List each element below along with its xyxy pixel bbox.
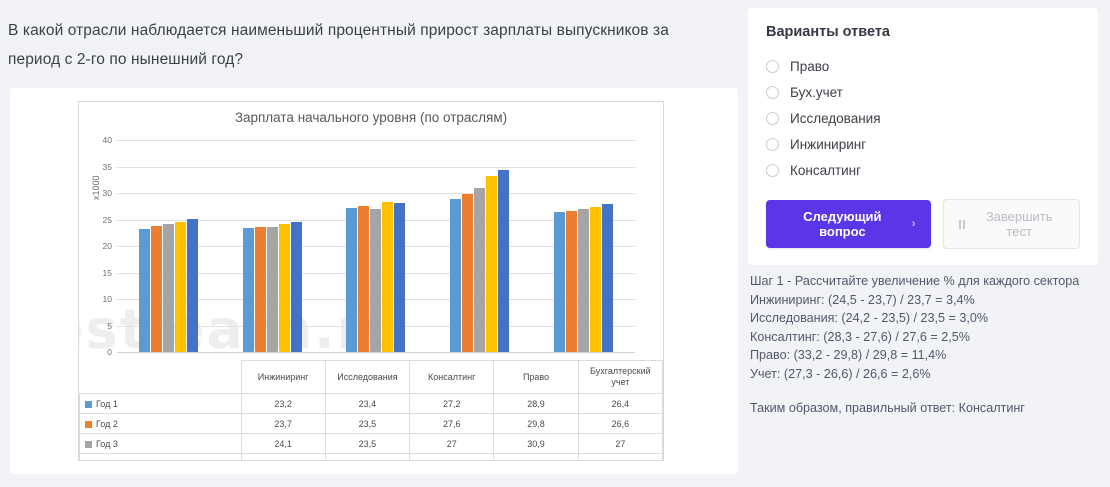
explanation-conclusion: Таким образом, правильный ответ: Консалт… xyxy=(750,399,1102,418)
question-text: В какой отрасли наблюдается наименьший п… xyxy=(8,16,724,74)
chart-bar xyxy=(267,227,278,352)
chart-bar xyxy=(602,204,613,352)
chart-bar xyxy=(291,222,302,352)
chart-group-3 xyxy=(324,140,428,352)
answer-option-2[interactable]: Бух.учет xyxy=(766,79,1080,105)
explanation-spacer xyxy=(750,383,1102,399)
answer-actions: Следующий вопрос › Завершить тест xyxy=(766,199,1080,249)
chart-bar xyxy=(175,222,186,352)
legend-swatch-icon xyxy=(85,421,92,428)
table-corner-cell xyxy=(80,361,242,394)
chart-plot-area: x1000 4035302520151050 xyxy=(117,140,635,352)
next-question-button[interactable]: Следующий вопрос › xyxy=(766,200,931,248)
radio-icon[interactable] xyxy=(766,86,779,99)
next-question-label: Следующий вопрос xyxy=(782,209,903,239)
explanation-line-2: Инжиниринг: (24,5 - 23,7) / 23,7 = 3,4% xyxy=(750,291,1102,310)
legend-label: Год 3 xyxy=(96,439,118,449)
legend-label: Год 2 xyxy=(96,419,118,429)
chart-title: Зарплата начального уровня (по отраслям) xyxy=(79,110,663,125)
table-header: ИнжинирингИсследованияКонсалтингПравоБух… xyxy=(80,361,663,394)
pause-icon xyxy=(959,220,965,229)
legend-label: Текущий год xyxy=(96,459,148,462)
answer-option-5[interactable]: Консалтинг xyxy=(766,157,1080,183)
table-cell: 24,2 xyxy=(325,454,409,462)
legend-swatch-icon xyxy=(85,441,92,448)
table-cell: 24,1 xyxy=(241,434,325,454)
table-cell: 28,9 xyxy=(494,394,578,414)
chart-bar xyxy=(243,228,254,352)
table-cell: 24,5 xyxy=(241,454,325,462)
table-row: Год 123,223,427,228,926,4 xyxy=(80,394,663,414)
chart-bar xyxy=(139,229,150,352)
explanation-line-3: Исследования: (24,2 - 23,5) / 23,5 = 3,0… xyxy=(750,309,1102,328)
answer-option-label: Право xyxy=(790,59,829,74)
chevron-right-icon: › xyxy=(912,218,916,230)
table-cell: 23,2 xyxy=(241,394,325,414)
table-row: Год 324,123,52730,927 xyxy=(80,434,663,454)
legend-item-4: Текущий год xyxy=(80,454,242,462)
chart-bar xyxy=(554,212,565,352)
chart-data-table: ИнжинирингИсследованияКонсалтингПравоБух… xyxy=(79,360,663,461)
table-cell: 27,6 xyxy=(410,414,494,434)
explanation-line-5: Право: (33,2 - 29,8) / 29,8 = 11,4% xyxy=(750,346,1102,365)
chart-bar xyxy=(163,224,174,352)
table-column-header-5: Бухгалтерский учет xyxy=(578,361,662,394)
answer-option-3[interactable]: Исследования xyxy=(766,105,1080,131)
table-column-header-1: Инжиниринг xyxy=(241,361,325,394)
table-cell: 33,2 xyxy=(494,454,578,462)
chart-card: testlearn.ru testlearn.ru Зарплата начал… xyxy=(10,88,738,474)
explanation-line-4: Консалтинг: (28,3 - 27,6) / 27,6 = 2,5% xyxy=(750,328,1102,347)
table-row: ИнжинирингИсследованияКонсалтингПравоБух… xyxy=(80,361,663,394)
legend-item-3: Год 3 xyxy=(80,434,242,454)
table-cell: 26,4 xyxy=(578,394,662,414)
explanation-line-6: Учет: (27,3 - 26,6) / 26,6 = 2,6% xyxy=(750,365,1102,384)
answers-card: Варианты ответа ПравоБух.учетИсследовани… xyxy=(748,8,1098,265)
table-column-header-3: Консалтинг xyxy=(410,361,494,394)
legend-item-2: Год 2 xyxy=(80,414,242,434)
answer-option-label: Инжиниринг xyxy=(790,137,866,152)
table-cell: 27,3 xyxy=(578,454,662,462)
chart-bar xyxy=(450,199,461,352)
table-cell: 28,3 xyxy=(410,454,494,462)
chart-bar xyxy=(358,206,369,352)
chart-bar xyxy=(566,211,577,352)
radio-icon[interactable] xyxy=(766,164,779,177)
chart-bar xyxy=(486,176,497,352)
chart-bar xyxy=(151,226,162,352)
table-cell: 27,2 xyxy=(410,394,494,414)
table-cell: 30,9 xyxy=(494,434,578,454)
chart-bar xyxy=(474,188,485,352)
finish-test-button[interactable]: Завершить тест xyxy=(943,199,1080,249)
answer-option-label: Бух.учет xyxy=(790,85,843,100)
table-body: Год 123,223,427,228,926,4Год 223,723,527… xyxy=(80,394,663,462)
chart-bar xyxy=(394,203,405,352)
chart-bar xyxy=(255,227,266,352)
legend-item-1: Год 1 xyxy=(80,394,242,414)
chart-y-tick: 20 xyxy=(103,241,112,251)
table-row: Год 223,723,527,629,826,6 xyxy=(80,414,663,434)
answer-option-label: Консалтинг xyxy=(790,163,861,178)
answer-option-4[interactable]: Инжиниринг xyxy=(766,131,1080,157)
table-row: Текущий год24,524,228,333,227,3 xyxy=(80,454,663,462)
chart-y-axis-title: x1000 xyxy=(91,175,101,200)
table-cell: 23,5 xyxy=(325,414,409,434)
table-column-header-4: Право xyxy=(494,361,578,394)
answers-column: Варианты ответа ПравоБух.учетИсследовани… xyxy=(748,0,1110,487)
answer-option-1[interactable]: Право xyxy=(766,53,1080,79)
chart-bar-groups xyxy=(117,140,635,352)
table-cell: 27 xyxy=(410,434,494,454)
chart-bar xyxy=(187,219,198,352)
chart-y-tick: 40 xyxy=(103,135,112,145)
chart-y-tick: 15 xyxy=(103,268,112,278)
quiz-page: В какой отрасли наблюдается наименьший п… xyxy=(0,0,1110,487)
chart-bar xyxy=(279,224,290,352)
explanation-line-1: Шаг 1 - Рассчитайте увеличение % для каж… xyxy=(750,272,1102,291)
chart-image: testlearn.ru testlearn.ru Зарплата начал… xyxy=(78,101,664,461)
chart-gridline xyxy=(117,352,635,353)
table-cell: 29,8 xyxy=(494,414,578,434)
chart-bar xyxy=(462,194,473,352)
chart-y-tick: 10 xyxy=(103,294,112,304)
chart-y-tick: 25 xyxy=(103,215,112,225)
chart-y-tick: 35 xyxy=(103,162,112,172)
answer-option-label: Исследования xyxy=(790,111,881,126)
chart-bar xyxy=(370,209,381,352)
answer-options-list: ПравоБух.учетИсследованияИнжинирингКонса… xyxy=(766,53,1080,183)
finish-test-label: Завершить тест xyxy=(974,209,1064,239)
chart-bar xyxy=(578,209,589,352)
chart-group-4 xyxy=(428,140,532,352)
chart-y-tick: 30 xyxy=(103,188,112,198)
table-column-header-2: Исследования xyxy=(325,361,409,394)
table-cell: 23,5 xyxy=(325,434,409,454)
radio-icon[interactable] xyxy=(766,138,779,151)
legend-swatch-icon xyxy=(85,461,92,462)
chart-group-5 xyxy=(531,140,635,352)
question-block: В какой отрасли наблюдается наименьший п… xyxy=(8,16,724,74)
chart-group-2 xyxy=(221,140,325,352)
chart-bar xyxy=(498,170,509,352)
table-cell: 26,6 xyxy=(578,414,662,434)
chart-y-tick: 0 xyxy=(107,347,112,357)
explanation-lines: Шаг 1 - Рассчитайте увеличение % для каж… xyxy=(750,272,1102,383)
answers-title: Варианты ответа xyxy=(766,24,1080,40)
legend-label: Год 1 xyxy=(96,399,118,409)
radio-icon[interactable] xyxy=(766,112,779,125)
table-cell: 23,7 xyxy=(241,414,325,434)
chart-bar xyxy=(346,208,357,352)
explanation-block: Шаг 1 - Рассчитайте увеличение % для каж… xyxy=(750,272,1102,418)
chart-bar xyxy=(590,207,601,352)
chart-group-1 xyxy=(117,140,221,352)
question-column: В какой отрасли наблюдается наименьший п… xyxy=(0,0,740,487)
legend-swatch-icon xyxy=(85,401,92,408)
radio-icon[interactable] xyxy=(766,60,779,73)
chart-bar xyxy=(382,202,393,352)
chart-y-tick: 5 xyxy=(107,321,112,331)
table-cell: 27 xyxy=(578,434,662,454)
table-cell: 23,4 xyxy=(325,394,409,414)
